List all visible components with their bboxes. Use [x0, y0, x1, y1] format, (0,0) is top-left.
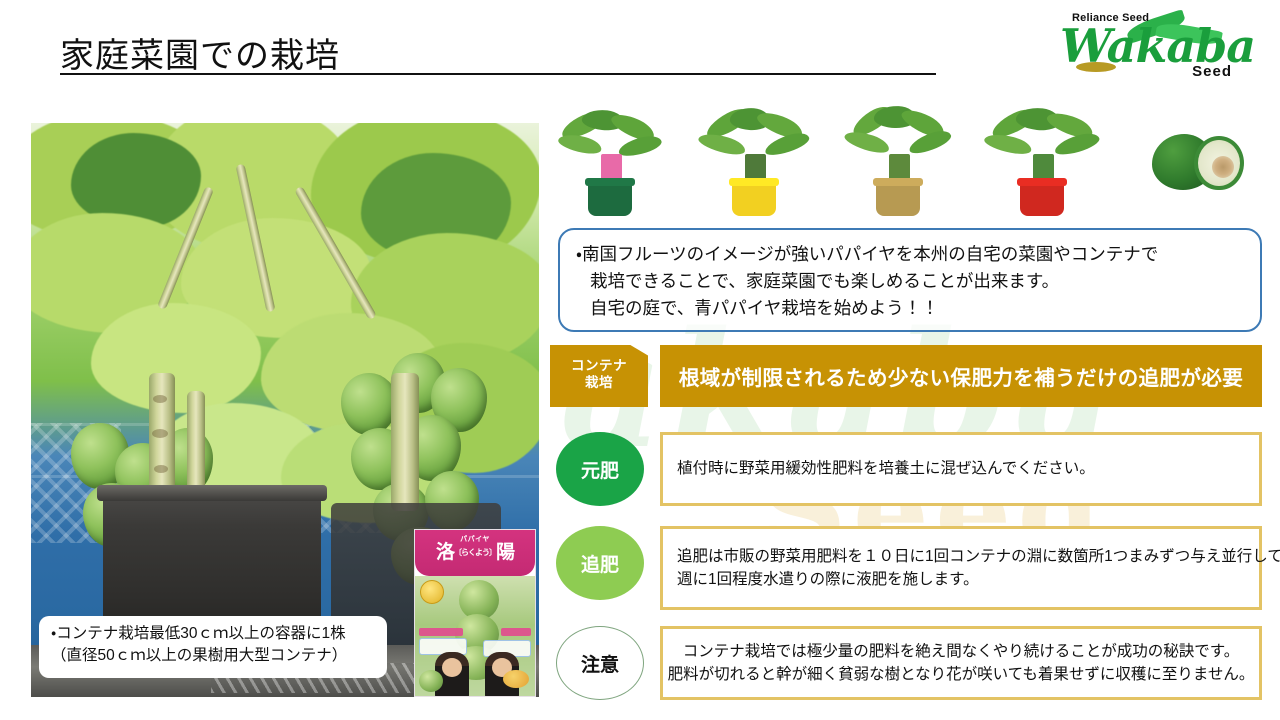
plant-pot	[588, 182, 632, 216]
photo-caption: ・コンテナ栽培最低30ｃｍ以上の容器に1株 （直径50ｃｍ以上の果樹用大型コンテ…	[39, 616, 387, 678]
papaya-fruit	[341, 373, 397, 435]
packet-name-kana: 〔らくよう〕	[454, 548, 496, 557]
papaya-flesh	[1198, 140, 1240, 186]
container-tab-line2: 栽培	[550, 375, 648, 392]
callout-line-2: 栽培できることで、家庭菜園でも楽しめることが出来ます。	[576, 268, 1244, 295]
plant-pot	[1020, 182, 1064, 216]
tsuihi-text-line2: 週に1回程度水遣りの際に液肥を施します。	[677, 568, 1280, 591]
thumbnail-seedling-tan-pot	[840, 110, 960, 218]
packet-tag	[501, 628, 531, 636]
packet-ripe-fruit	[503, 670, 529, 688]
papaya-seeds	[1212, 156, 1234, 178]
chui-text-line1: コンテナ栽培では極少量の肥料を絶え間なくやり続けることが成功の秘訣です。	[668, 640, 1255, 663]
container-cultivation-tab: コンテナ 栽培	[550, 345, 648, 407]
text-box-chui: コンテナ栽培では極少量の肥料を絶え間なくやり続けることが成功の秘訣です。 肥料が…	[660, 626, 1262, 700]
container-rim	[97, 485, 327, 501]
chui-text-line2: 肥料が切れると幹が細く貧弱な樹となり花が咲いても着果せずに収穫に至りません。	[668, 663, 1255, 686]
packet-name-tail: 陽	[496, 542, 514, 563]
badge-tsuihi-label: 追肥	[581, 550, 619, 577]
trunk-scar	[154, 465, 168, 473]
badge-chui-label: 注意	[581, 650, 619, 677]
thumbnail-seedling-yellow-pot	[696, 110, 816, 218]
callout-line-3: 自宅の庭で、青パパイヤ栽培を始めよう！！	[576, 295, 1244, 322]
photo-caption-line2: （直径50ｃｍ以上の果樹用大型コンテナ）	[51, 645, 377, 667]
text-box-tsuihi: 追肥は市販の野菜用肥料を１０日に1回コンテナの淵に数箇所1つまみずつ与え並行して…	[660, 526, 1262, 610]
award-badge-icon	[420, 580, 444, 604]
slide-canvas: akaba Seed 家庭菜園での栽培 Reliance Seed Wakaba…	[0, 0, 1280, 720]
container-tab-line1: コンテナ	[550, 358, 648, 375]
logo-suffix: Seed	[1192, 63, 1232, 80]
papaya-leaf	[617, 133, 664, 159]
tsuihi-text-line1: 追肥は市販の野菜用肥料を１０日に1回コンテナの淵に数箇所1つまみずつ与え並行して	[677, 545, 1280, 568]
papaya-trunk	[149, 373, 175, 503]
plant-pot	[876, 182, 920, 216]
seed-packet-image: パパイヤ 洛〔らくよう〕陽	[414, 529, 536, 697]
packet-fruit	[419, 670, 443, 692]
packet-person-face	[442, 658, 462, 677]
badge-tsuihi: 追肥	[556, 526, 644, 600]
papaya-fruit-half	[1194, 136, 1244, 190]
foliage	[91, 303, 261, 413]
container-headline-band: 根域が制限されるため少ない保肥力を補うだけの追肥が必要	[660, 345, 1262, 407]
plant-pot	[732, 182, 776, 216]
badge-motogoe-label: 元肥	[581, 456, 619, 483]
callout-line-1: ・南国フルーツのイメージが強いパパイヤを本州の自宅の菜園やコンテナで	[576, 241, 1244, 268]
badge-chui: 注意	[556, 626, 644, 700]
photo-caption-line1: ・コンテナ栽培最低30ｃｍ以上の容器に1株	[51, 623, 377, 645]
intro-callout-box: ・南国フルーツのイメージが強いパパイヤを本州の自宅の菜園やコンテナで 栽培できる…	[558, 228, 1262, 332]
thumbnail-papaya-fruit-cut	[1136, 110, 1264, 218]
packet-photo	[415, 576, 535, 697]
container-headline-text: 根域が制限されるため少ない保肥力を補うだけの追肥が必要	[679, 361, 1243, 391]
packet-product-name: 洛〔らくよう〕陽	[415, 543, 535, 562]
trunk-scar	[153, 395, 167, 403]
packet-header: パパイヤ 洛〔らくよう〕陽	[415, 530, 535, 576]
packet-name-main: 洛	[436, 542, 454, 563]
packet-tag	[419, 628, 463, 636]
title-underline	[60, 73, 936, 75]
thumbnail-seedling-red-pot	[984, 110, 1104, 218]
page-title: 家庭菜園での栽培	[60, 28, 340, 77]
trunk-scar	[152, 429, 168, 438]
thumbnail-seedling-green-pot	[552, 110, 672, 218]
wakaba-seed-logo: Reliance Seed Wakaba Seed	[1040, 10, 1236, 82]
papaya-trunk	[391, 373, 419, 511]
seedling-thumbnail-strip	[552, 110, 1264, 218]
motogoe-text-line1: 植付時に野菜用緩効性肥料を培養土に混ぜ込んでください。	[677, 457, 1095, 480]
text-box-motogoe: 植付時に野菜用緩効性肥料を培養土に混ぜ込んでください。	[660, 432, 1262, 506]
badge-motogoe: 元肥	[556, 432, 644, 506]
